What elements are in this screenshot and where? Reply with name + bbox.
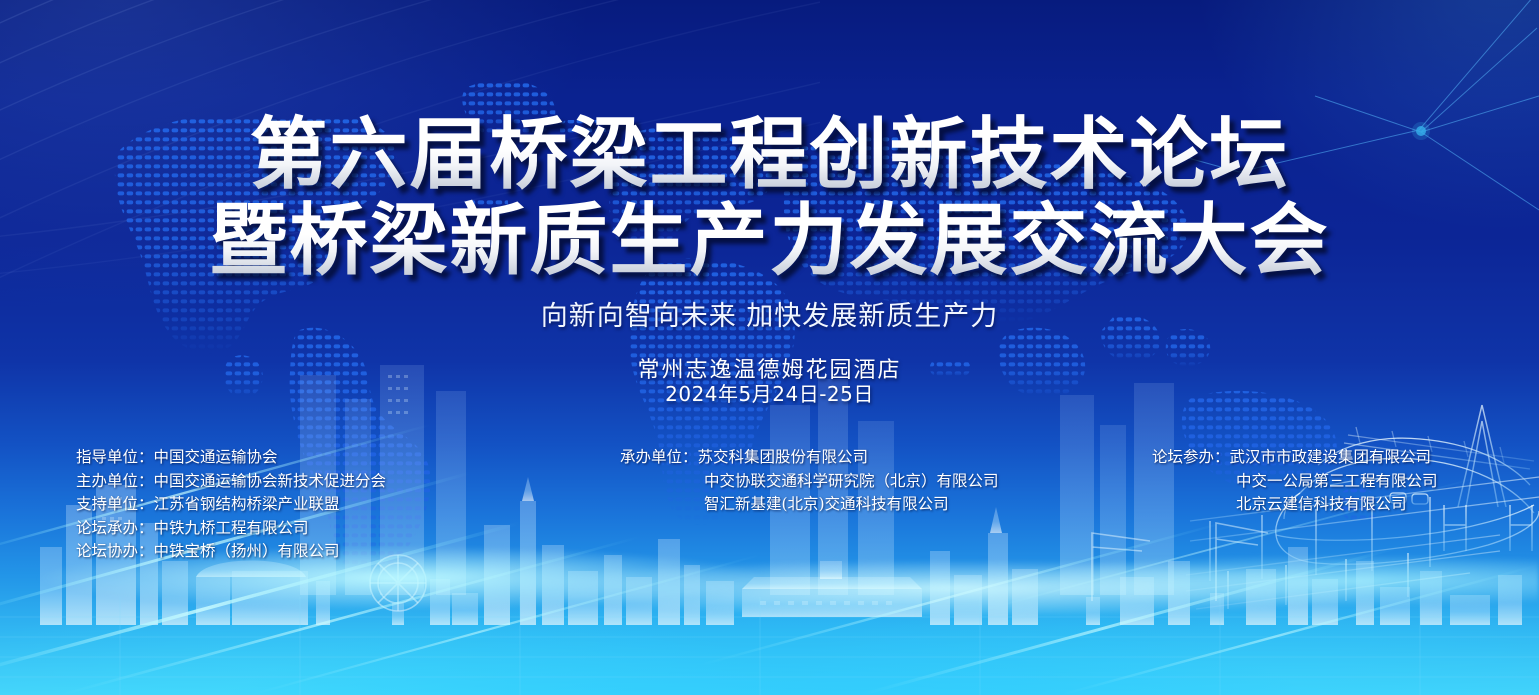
organizer-value: 中交一公局第三工程有限公司 <box>1236 472 1438 490</box>
organizer-value: 中国交通运输协会新技术促进分会 <box>154 472 387 490</box>
poster-slogan: 向新向智向未来 加快发展新质生产力 <box>0 294 1539 333</box>
organizer-label: 指导单位： <box>76 446 154 470</box>
organizer-row: 论坛承办：中铁九桥工程有限公司 <box>76 517 386 541</box>
organizer-value: 北京云建信科技有限公司 <box>1236 495 1407 513</box>
conference-poster: 第六届桥梁工程创新技术论坛 暨桥梁新质生产力发展交流大会 向新向智向未来 加快发… <box>0 0 1539 695</box>
organizer-value: 武汉市市政建设集团有限公司 <box>1230 448 1432 466</box>
organizer-column-middle: 承办单位：苏交科集团股份有限公司 中交协联交通科学研究院（北京）有限公司 智汇新… <box>620 446 999 517</box>
organizer-value: 智汇新基建(北京)交通科技有限公司 <box>704 495 949 513</box>
organizer-value: 中铁宝桥（扬州）有限公司 <box>154 542 340 560</box>
organizer-column-right: 论坛参办：武汉市市政建设集团有限公司 中交一公局第三工程有限公司 北京云建信科技… <box>1152 446 1438 517</box>
organizer-row: 指导单位：中国交通运输协会 <box>76 446 386 470</box>
organizer-value: 中铁九桥工程有限公司 <box>154 519 309 537</box>
organizer-row: 北京云建信科技有限公司 <box>1152 493 1438 517</box>
organizer-label: 承办单位： <box>620 446 698 470</box>
organizer-label: 论坛参办： <box>1152 446 1230 470</box>
title-line-1: 第六届桥梁工程创新技术论坛 <box>0 112 1539 198</box>
organizer-row: 智汇新基建(北京)交通科技有限公司 <box>620 493 999 517</box>
organizer-row: 中交一公局第三工程有限公司 <box>1152 470 1438 494</box>
organizer-row: 主办单位：中国交通运输协会新技术促进分会 <box>76 470 386 494</box>
organizer-label: 论坛协办： <box>76 540 154 564</box>
organizer-row: 论坛协办：中铁宝桥（扬州）有限公司 <box>76 540 386 564</box>
organizer-label: 论坛承办： <box>76 517 154 541</box>
title-line-2: 暨桥梁新质生产力发展交流大会 <box>0 198 1539 284</box>
organizer-label: 支持单位： <box>76 493 154 517</box>
organizer-row: 承办单位：苏交科集团股份有限公司 <box>620 446 999 470</box>
organizer-value: 中国交通运输协会 <box>154 448 278 466</box>
organizer-label: 主办单位： <box>76 470 154 494</box>
organizer-value: 中交协联交通科学研究院（北京）有限公司 <box>704 472 999 490</box>
poster-title: 第六届桥梁工程创新技术论坛 暨桥梁新质生产力发展交流大会 <box>0 112 1539 284</box>
organizer-row: 中交协联交通科学研究院（北京）有限公司 <box>620 470 999 494</box>
organizer-row: 支持单位：江苏省钢结构桥梁产业联盟 <box>76 493 386 517</box>
organizer-column-left: 指导单位：中国交通运输协会 主办单位：中国交通运输协会新技术促进分会 支持单位：… <box>76 446 386 564</box>
organizer-value: 江苏省钢结构桥梁产业联盟 <box>154 495 340 513</box>
organizer-value: 苏交科集团股份有限公司 <box>698 448 869 466</box>
organizer-row: 论坛参办：武汉市市政建设集团有限公司 <box>1152 446 1438 470</box>
venue-dates: 2024年5月24日-25日 <box>0 378 1539 407</box>
